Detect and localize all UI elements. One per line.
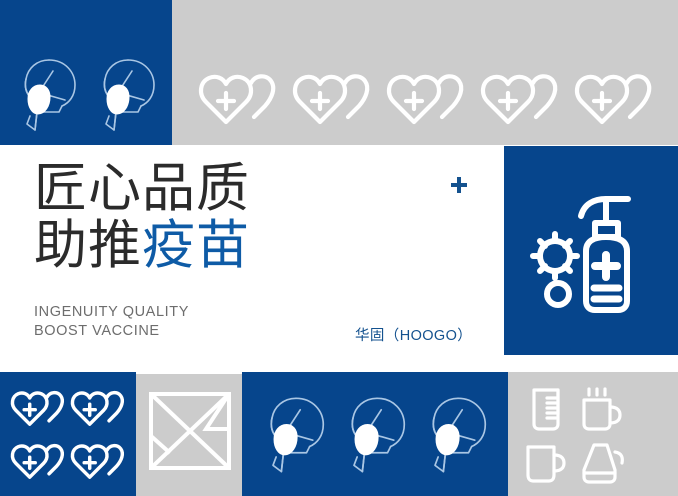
masked-head-icon	[258, 392, 332, 480]
top-masked-head-group	[8, 52, 166, 140]
kettle-icon	[577, 440, 625, 486]
headline-line-2-blue: 疫苗	[142, 216, 250, 275]
double-heart-plus-icon	[196, 69, 280, 131]
headline-line-2-dark: 助推	[34, 216, 142, 275]
plus-icon	[450, 176, 468, 194]
bottom-ware-group	[518, 382, 628, 490]
double-heart-plus-icon	[9, 387, 67, 431]
double-heart-plus-icon	[69, 440, 127, 484]
masked-head-icon	[13, 54, 83, 138]
brand-name: 华固（HOOGO）	[355, 324, 472, 345]
hand-sanitizer-bottle-icon	[524, 193, 658, 317]
masked-head-icon	[92, 54, 162, 138]
double-heart-plus-icon	[69, 387, 127, 431]
page-title: 匠心品质 助推疫苗	[34, 160, 464, 274]
steaming-cup-icon	[578, 386, 624, 432]
masked-head-icon	[339, 392, 413, 480]
masked-head-icon	[420, 392, 494, 480]
subtitle-line-2: BOOST VACCINE	[34, 322, 189, 341]
mug-icon	[523, 441, 569, 485]
headline-line-1: 匠心品质	[34, 160, 464, 217]
double-heart-plus-icon	[572, 69, 656, 131]
top-heart-group	[180, 62, 672, 138]
double-heart-plus-icon	[384, 69, 468, 131]
double-heart-plus-icon	[9, 440, 67, 484]
bottom-masked-head-group	[254, 386, 498, 486]
bottom-heart-group	[8, 382, 128, 488]
subtitle-line-1: INGENUITY QUALITY	[34, 303, 189, 322]
subtitle: INGENUITY QUALITY BOOST VACCINE	[34, 303, 189, 341]
broken-image-placeholder-icon	[148, 391, 232, 471]
double-heart-plus-icon	[290, 69, 374, 131]
double-heart-plus-icon	[478, 69, 562, 131]
graduated-beaker-icon	[525, 386, 567, 432]
poster-canvas: 匠心品质 助推疫苗 INGENUITY QUALITY BOOST VACCIN…	[0, 0, 678, 496]
headline-line-2: 助推疫苗	[34, 217, 464, 274]
